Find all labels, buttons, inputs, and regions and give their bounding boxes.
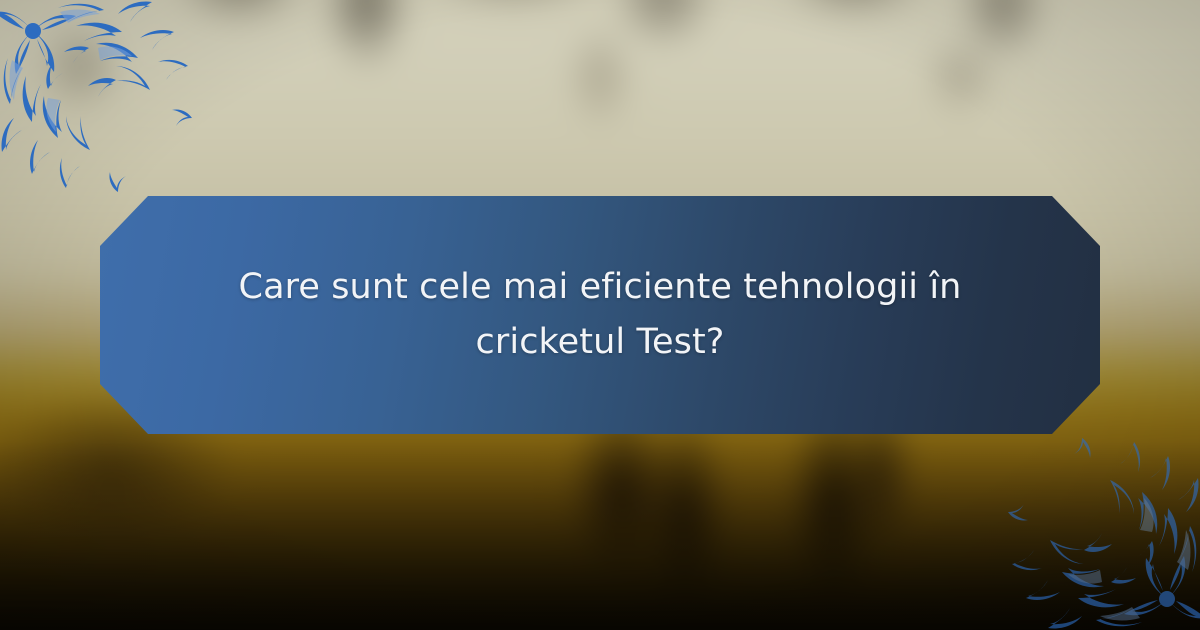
question-text: Care sunt cele mai eficiente tehnologii … (230, 260, 970, 370)
question-banner: Care sunt cele mai eficiente tehnologii … (100, 196, 1100, 434)
question-card-canvas: Care sunt cele mai eficiente tehnologii … (0, 0, 1200, 630)
